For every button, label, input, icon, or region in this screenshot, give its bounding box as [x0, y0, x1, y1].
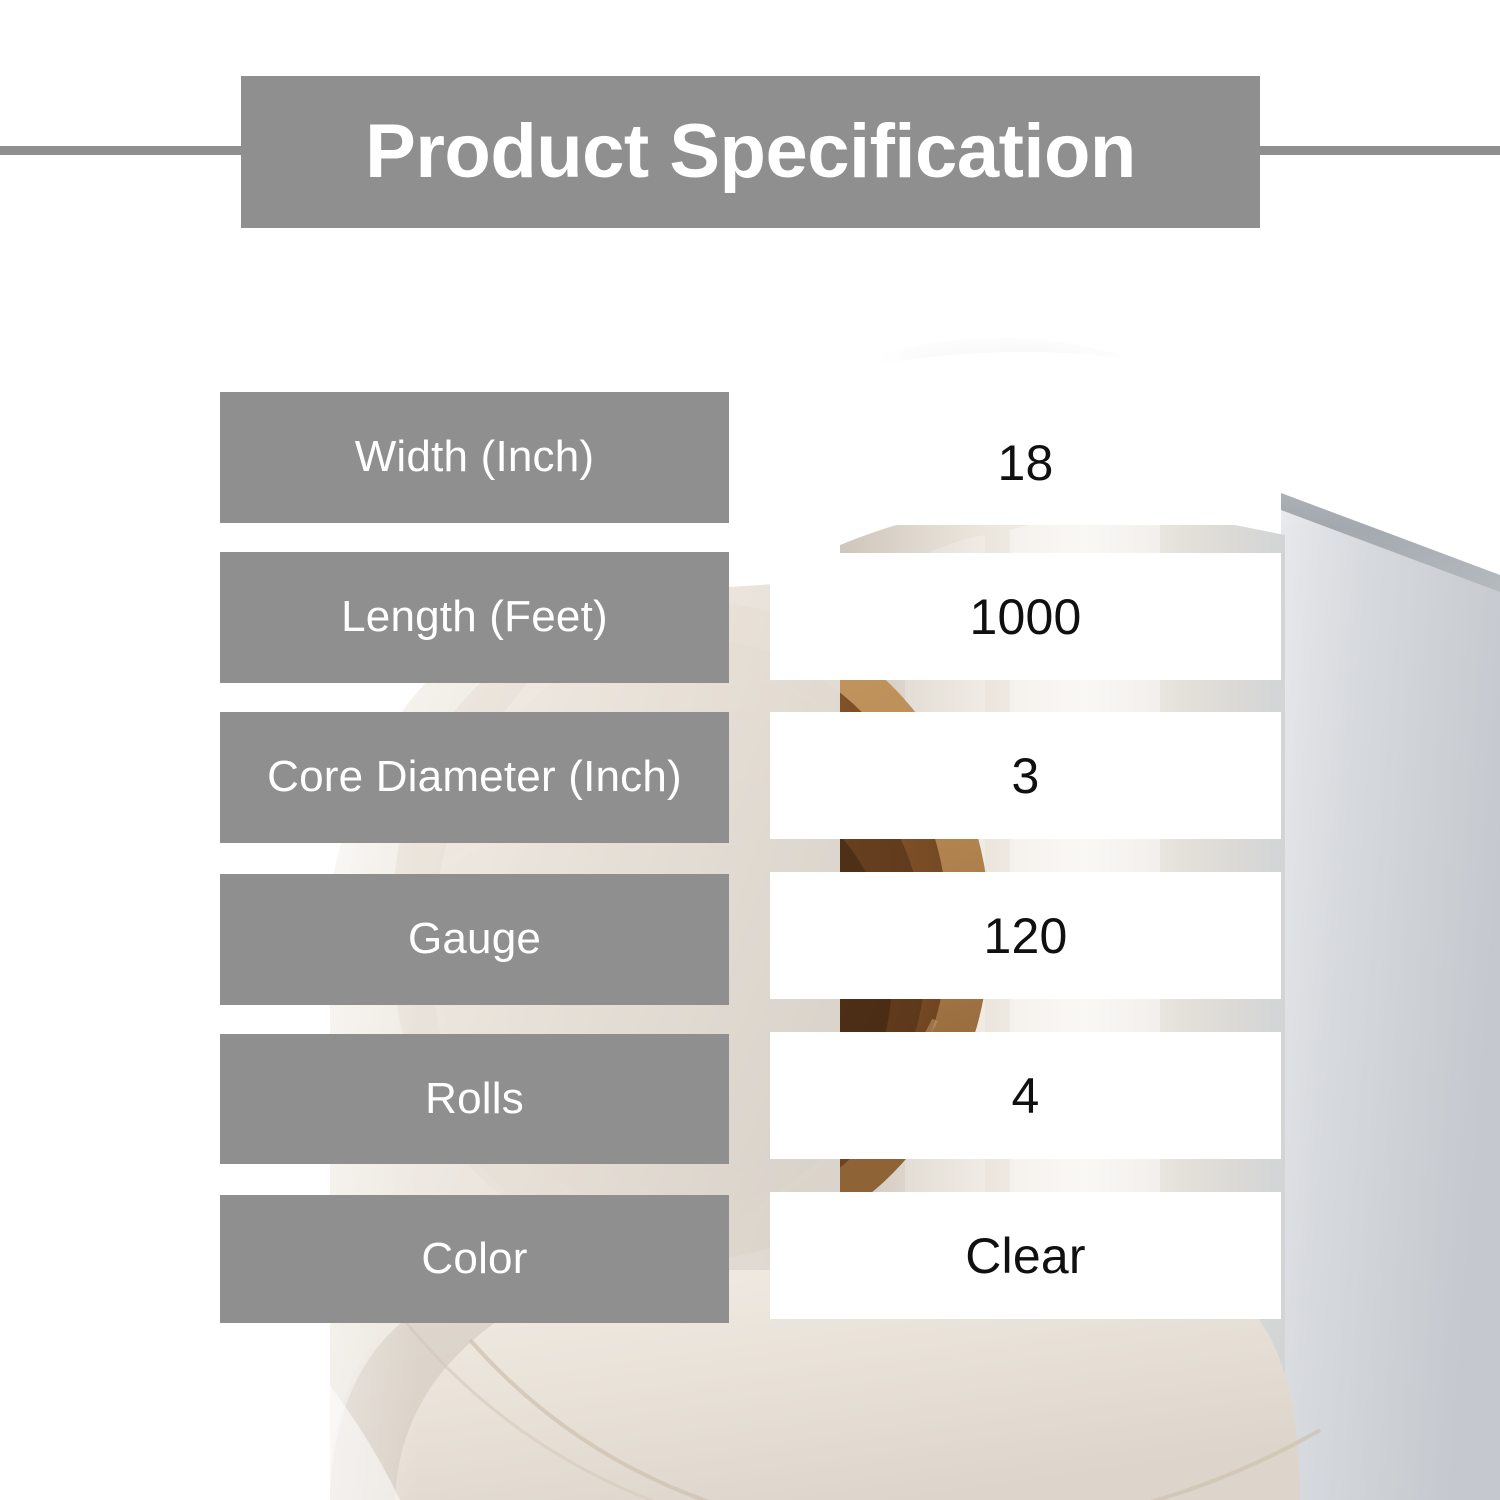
- product-specification-infographic: Product Specification Width (Inch) 18 Le…: [0, 0, 1500, 1500]
- spec-value-length: 1000: [770, 553, 1281, 680]
- spec-label-length: Length (Feet): [220, 552, 729, 683]
- specification-table: Width (Inch) 18 Length (Feet) 1000 Core …: [0, 0, 1500, 1500]
- spec-value-core-diameter: 3: [770, 712, 1281, 839]
- spec-label-gauge: Gauge: [220, 874, 729, 1005]
- spec-label-color: Color: [220, 1195, 729, 1323]
- spec-label-width: Width (Inch): [220, 392, 729, 523]
- spec-value-rolls: 4: [770, 1032, 1281, 1159]
- spec-value-width: 18: [770, 400, 1281, 525]
- spec-label-core-diameter: Core Diameter (Inch): [220, 712, 729, 843]
- spec-value-gauge: 120: [770, 872, 1281, 999]
- spec-value-color: Clear: [770, 1192, 1281, 1319]
- spec-label-rolls: Rolls: [220, 1034, 729, 1164]
